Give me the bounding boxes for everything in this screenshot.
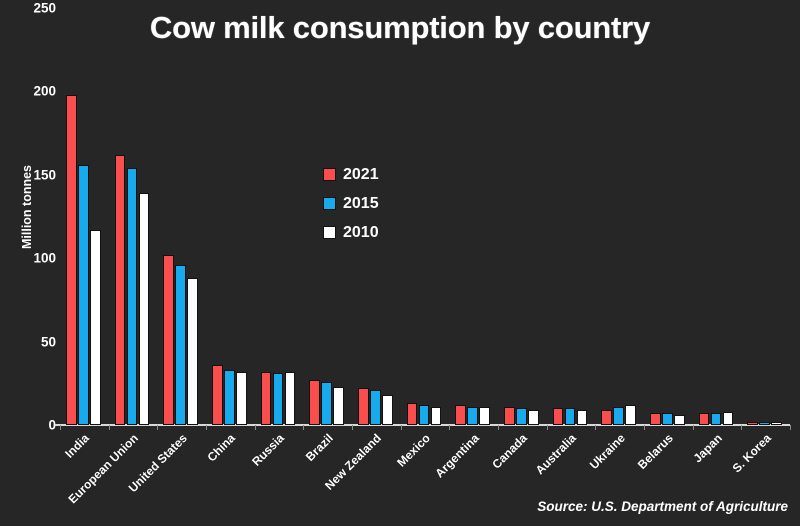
bar-group xyxy=(157,8,206,425)
x-axis-tick-mark xyxy=(255,425,256,430)
legend-item-2010[interactable]: 2010 xyxy=(323,218,379,247)
bar-2010 xyxy=(382,395,393,425)
x-axis-tick-mark xyxy=(644,425,645,430)
bar-2021 xyxy=(650,413,661,425)
bar-group xyxy=(255,8,304,425)
bar-2015 xyxy=(467,407,478,425)
bar-2015 xyxy=(662,413,673,425)
bar-2010 xyxy=(528,410,539,425)
x-axis-tick-mark xyxy=(498,425,499,430)
bar-2015 xyxy=(321,382,332,425)
bar-group xyxy=(498,8,547,425)
y-axis-tick-label: 200 xyxy=(4,84,56,99)
x-axis-tick-mark xyxy=(352,425,353,430)
bar-2015 xyxy=(565,408,576,425)
bar-2021 xyxy=(699,413,710,425)
bar-2010 xyxy=(723,412,734,425)
bar-2010 xyxy=(187,278,198,425)
bar-2021 xyxy=(553,408,564,425)
bar-2021 xyxy=(212,365,223,425)
bar-2010 xyxy=(479,407,490,425)
x-axis-tick-mark xyxy=(206,425,207,430)
bar-2010 xyxy=(625,405,636,425)
legend-item-2021[interactable]: 2021 xyxy=(323,160,379,189)
x-axis-category-label: India xyxy=(63,431,93,461)
bar-group xyxy=(547,8,596,425)
x-axis-category-label: Canada xyxy=(490,431,531,472)
x-axis-tick-mark xyxy=(157,425,158,430)
x-axis-category-label: S. Korea xyxy=(729,431,773,475)
bar-2015 xyxy=(711,413,722,425)
x-axis-category-label: Belarus xyxy=(635,431,676,472)
x-axis-tick-mark xyxy=(790,425,791,430)
x-axis-category-label: Japan xyxy=(690,431,724,465)
y-axis-tick-label: 250 xyxy=(4,1,56,16)
bar-2021 xyxy=(747,422,758,425)
y-axis-ticks: 250200150100500 xyxy=(0,0,56,526)
bar-2021 xyxy=(601,410,612,425)
legend-label: 2015 xyxy=(343,195,379,213)
x-axis-category-label: Argentina xyxy=(432,431,482,481)
x-axis-tick-mark xyxy=(693,425,694,430)
bar-2015 xyxy=(273,373,284,425)
bar-group xyxy=(741,8,790,425)
x-axis-category-label: Australia xyxy=(533,431,579,477)
bar-group xyxy=(693,8,742,425)
y-axis-tick-label: 150 xyxy=(4,167,56,182)
x-axis-tick-mark xyxy=(303,425,304,430)
x-axis-category-label: Ukraine xyxy=(587,431,628,472)
legend-item-2015[interactable]: 2015 xyxy=(323,189,379,218)
bar-2015 xyxy=(127,168,138,425)
legend-label: 2021 xyxy=(343,166,379,184)
bar-2015 xyxy=(516,408,527,425)
bar-group xyxy=(644,8,693,425)
bar-group xyxy=(60,8,109,425)
bar-2010 xyxy=(674,415,685,425)
bar-2015 xyxy=(759,422,770,425)
x-axis-tick-mark xyxy=(60,425,61,430)
legend-swatch-icon xyxy=(323,197,336,210)
x-axis-tick-mark xyxy=(401,425,402,430)
bar-2010 xyxy=(771,422,782,425)
bar-2021 xyxy=(455,405,466,425)
x-axis-tick-mark xyxy=(741,425,742,430)
chart-container: Cow milk consumption by country Million … xyxy=(0,0,800,526)
bar-2021 xyxy=(309,380,320,425)
bar-group xyxy=(206,8,255,425)
x-axis-tick-mark xyxy=(595,425,596,430)
x-axis-tick-mark xyxy=(547,425,548,430)
legend-swatch-icon xyxy=(323,168,336,181)
source-note: Source: U.S. Department of Agriculture xyxy=(537,499,788,514)
bar-2021 xyxy=(66,95,77,425)
x-axis-category-label: Mexico xyxy=(394,431,433,470)
y-axis-tick-label: 50 xyxy=(4,334,56,349)
chart-legend: 202120152010 xyxy=(323,160,379,247)
x-axis-tick-mark xyxy=(109,425,110,430)
x-axis-category-label: China xyxy=(205,431,238,464)
bar-2021 xyxy=(407,403,418,425)
bar-2021 xyxy=(261,372,272,425)
bar-2015 xyxy=(370,390,381,425)
bar-2010 xyxy=(577,410,588,425)
bar-2021 xyxy=(358,388,369,425)
x-axis-category-label: Russia xyxy=(249,431,287,469)
bar-2015 xyxy=(78,165,89,425)
bar-2021 xyxy=(115,155,126,425)
legend-swatch-icon xyxy=(323,226,336,239)
bar-2010 xyxy=(285,372,296,425)
plot-area xyxy=(60,8,790,425)
bar-2015 xyxy=(224,370,235,425)
bar-group xyxy=(401,8,450,425)
bar-2015 xyxy=(419,405,430,425)
bar-2010 xyxy=(90,230,101,425)
y-axis-tick-label: 0 xyxy=(4,418,56,433)
x-axis-category-label: Brazil xyxy=(303,431,336,464)
bar-2015 xyxy=(613,407,624,425)
bar-2015 xyxy=(175,265,186,425)
bar-group xyxy=(449,8,498,425)
bar-2010 xyxy=(333,387,344,425)
x-axis-tick-mark xyxy=(449,425,450,430)
bar-2021 xyxy=(163,255,174,425)
bar-2010 xyxy=(139,193,150,425)
bar-2021 xyxy=(504,407,515,425)
bar-group xyxy=(595,8,644,425)
bar-group xyxy=(109,8,158,425)
y-axis-tick-label: 100 xyxy=(4,251,56,266)
bar-2010 xyxy=(236,372,247,425)
legend-label: 2010 xyxy=(343,224,379,242)
bar-2010 xyxy=(431,407,442,425)
